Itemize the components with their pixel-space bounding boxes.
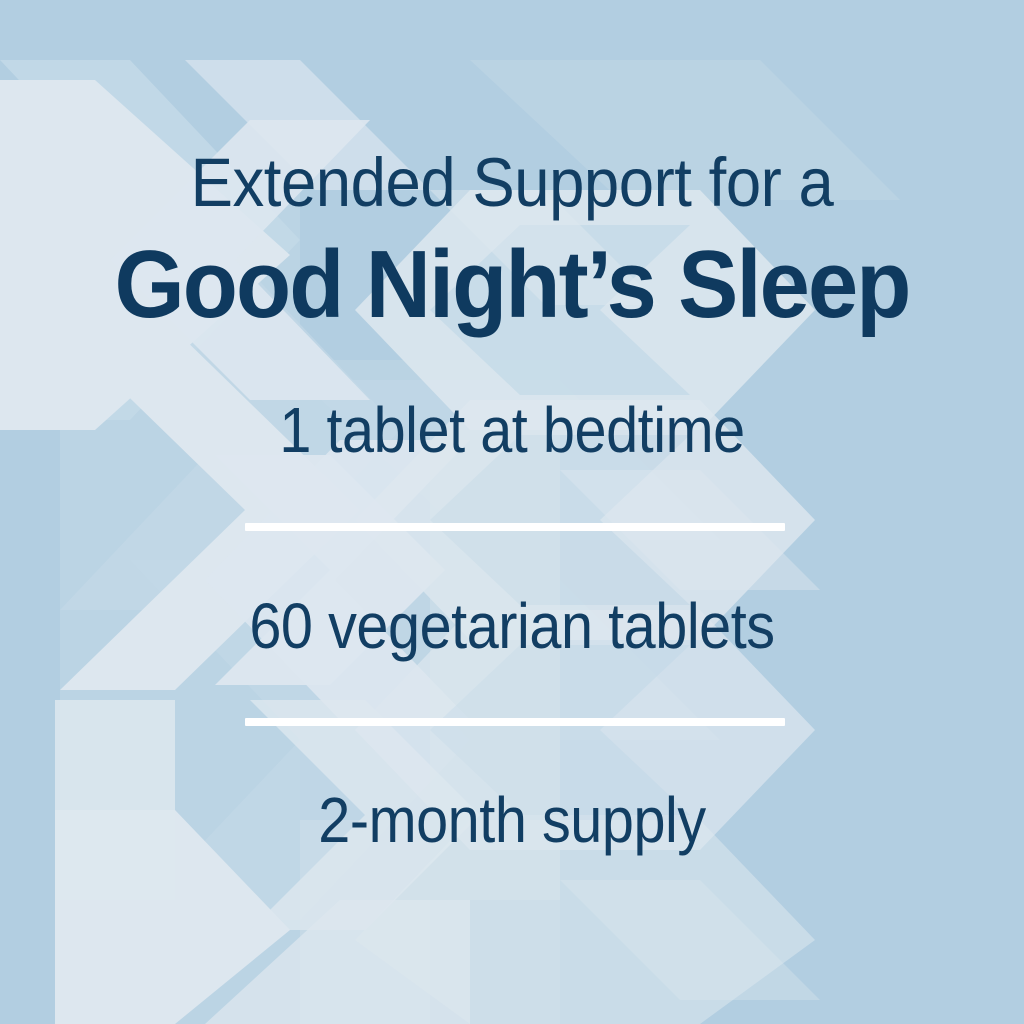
promo-graphic: Extended Support for a Good Night’s Slee… [0,0,1024,1024]
page-title: Good Night’s Sleep [31,237,994,333]
divider-rule-2 [245,718,785,726]
promo-content: Extended Support for a Good Night’s Slee… [0,0,1024,1024]
divider-rule-1 [245,523,785,531]
fact-supply: 2-month supply [51,788,973,852]
eyebrow-text: Extended Support for a [41,148,983,217]
fact-count: 60 vegetarian tablets [51,594,973,658]
fact-dosage: 1 tablet at bedtime [51,398,973,462]
